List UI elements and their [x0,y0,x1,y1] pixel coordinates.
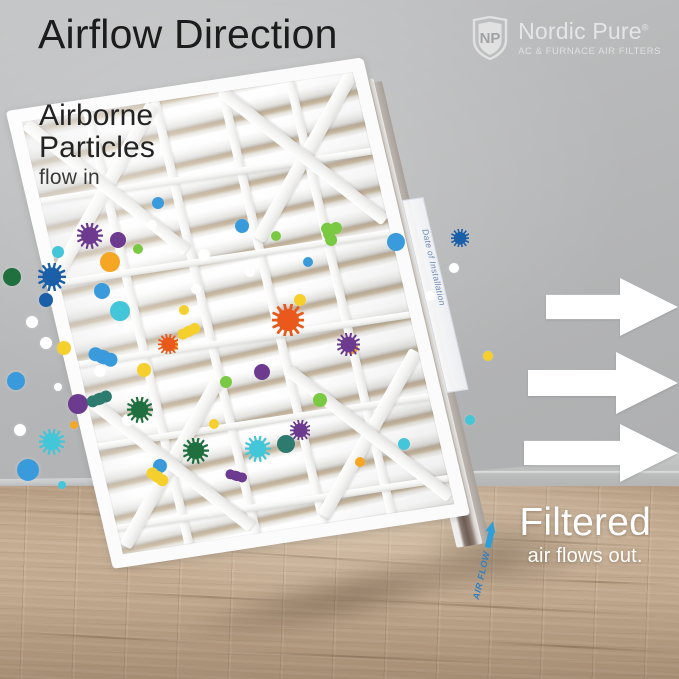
filtered-callout: Filtered air flows out. [519,503,651,568]
brand-wordmark: Nordic Pure® AC & FURNACE AIR FILTERS [518,20,661,57]
filtered-title: Filtered [519,503,651,542]
filtered-sub: air flows out. [519,545,651,568]
brand-name: Nordic Pure® [518,20,661,43]
brand-name-text: Nordic Pure [518,18,642,44]
registered-mark: ® [642,22,649,32]
airflow-arrow-1 [546,278,678,336]
airborne-sub: flow in [39,167,155,190]
airborne-line-1: Airborne [39,99,153,132]
page-title: Airflow Direction [38,14,338,55]
airborne-line-2: Particles [39,131,155,164]
airflow-arrow-3 [524,424,678,482]
airflow-label-text: AIR FLOW [470,550,491,600]
airflow-arrow-2 [528,352,678,414]
brand-tagline: AC & FURNACE AIR FILTERS [518,47,661,57]
airflow-direction-infographic: Date of Installation AIR FLOW Airflow Di… [0,0,679,679]
shield-icon: NP [471,16,509,60]
airborne-particles-callout: Airborne Particles flow in [39,100,155,189]
svg-text:NP: NP [480,30,501,47]
brand-logo: NP Nordic Pure® AC & FURNACE AIR FILTERS [471,16,661,60]
